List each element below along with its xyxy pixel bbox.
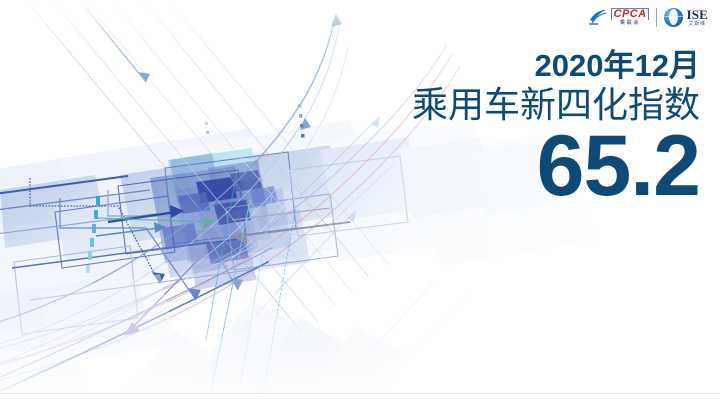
cpca-logo: CPCA 乘联会 xyxy=(588,7,650,27)
index-value: 65.2 xyxy=(270,124,700,208)
ise-wordmark: ISE 艾斯维 xyxy=(686,8,708,27)
cpca-chinese: 乘联会 xyxy=(620,21,640,26)
headline-block: 2020年12月 乘用车新四化指数 65.2 xyxy=(270,50,700,208)
poster-canvas: CPCA 乘联会 ISE 艾斯维 2020年12月 乘用车新四化指数 65.2 xyxy=(0,0,720,400)
globe-icon xyxy=(664,8,683,27)
ise-logo: ISE 艾斯维 xyxy=(664,8,708,27)
bottom-divider xyxy=(0,393,720,394)
logo-bar: CPCA 乘联会 ISE 艾斯维 xyxy=(588,5,708,29)
ise-chinese: 艾斯维 xyxy=(688,22,706,27)
cpca-wordmark: CPCA 乘联会 xyxy=(611,8,650,26)
cpca-swoosh-icon xyxy=(588,7,608,27)
ise-word: ISE xyxy=(686,8,708,21)
logo-separator xyxy=(656,8,657,27)
cpca-word: CPCA xyxy=(611,8,650,20)
month-label: 2020年12月 xyxy=(270,50,700,83)
